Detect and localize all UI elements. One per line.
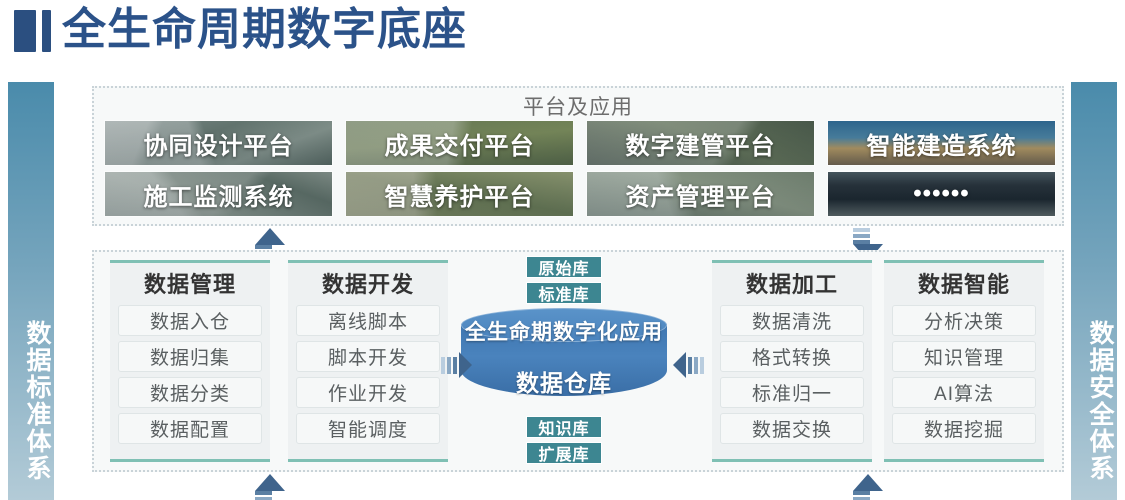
data-item[interactable]: 数据配置	[118, 413, 262, 444]
data-item[interactable]: 数据归集	[118, 341, 262, 372]
data-column-title: 数据管理	[118, 267, 262, 303]
platform-card[interactable]: 施工监测系统	[104, 171, 333, 217]
platform-card[interactable]: 智能建造系统	[827, 120, 1056, 166]
cylinder-label-primary: 全生命期数字化应用	[461, 316, 667, 346]
data-item[interactable]: 知识管理	[892, 341, 1036, 372]
data-item[interactable]: 脚本开发	[296, 341, 440, 372]
data-column-title: 数据加工	[720, 267, 864, 303]
platform-card-label: 施工监测系统	[144, 177, 294, 212]
platform-panel: 平台及应用 协同设计平台 施工监测系统 成果交付平台	[92, 86, 1064, 226]
platform-card-label: 资产管理平台	[626, 177, 776, 212]
data-item[interactable]: 格式转换	[720, 341, 864, 372]
data-column-development: 数据开发 离线脚本 脚本开发 作业开发 智能调度	[288, 260, 448, 462]
arrow-up-icon-bottom-right	[853, 474, 883, 500]
platform-card[interactable]: 资产管理平台	[586, 171, 815, 217]
db-tag-standard[interactable]: 标准库	[526, 282, 602, 304]
cylinder-icon: 全生命期数字化应用 数据仓库	[461, 308, 667, 412]
data-column-intelligence: 数据智能 分析决策 知识管理 AI算法 数据挖掘	[884, 260, 1044, 462]
data-column-items: 数据入仓 数据归集 数据分类 数据配置	[118, 305, 262, 444]
platform-card[interactable]: 成果交付平台	[345, 120, 574, 166]
page-title: 全生命周期数字底座	[62, 2, 467, 58]
platform-card[interactable]: 协同设计平台	[104, 120, 333, 166]
platform-card-label: 成果交付平台	[385, 126, 535, 161]
platform-panel-heading: 平台及应用	[94, 91, 1062, 121]
db-tag-raw[interactable]: 原始库	[526, 256, 602, 278]
data-item[interactable]: 数据挖掘	[892, 413, 1036, 444]
data-item[interactable]: 数据清洗	[720, 305, 864, 336]
data-item[interactable]: 数据分类	[118, 377, 262, 408]
data-column-title: 数据开发	[296, 267, 440, 303]
data-column-items: 离线脚本 脚本开发 作业开发 智能调度	[296, 305, 440, 444]
platform-card[interactable]: 数字建管平台	[586, 120, 815, 166]
platform-group: 数字建管平台 资产管理平台	[586, 120, 815, 217]
double-bar-icon	[14, 10, 51, 52]
data-column-items: 分析决策 知识管理 AI算法 数据挖掘	[892, 305, 1036, 444]
platform-card-more[interactable]: ••••••	[827, 171, 1056, 217]
arrow-up-icon-bottom-left	[255, 474, 285, 500]
platform-card-label: 协同设计平台	[144, 126, 294, 161]
platform-card-label: ••••••	[913, 180, 969, 208]
data-column-title: 数据智能	[892, 267, 1036, 303]
platform-card-groups: 协同设计平台 施工监测系统 成果交付平台 智慧养护平台	[104, 120, 1056, 217]
data-item[interactable]: 标准归一	[720, 377, 864, 408]
platform-group: 协同设计平台 施工监测系统	[104, 120, 333, 217]
data-item[interactable]: 数据入仓	[118, 305, 262, 336]
data-column-processing: 数据加工 数据清洗 格式转换 标准归一 数据交换	[712, 260, 872, 462]
platform-group: 智能建造系统 ••••••	[827, 120, 1056, 217]
data-column-management: 数据管理 数据入仓 数据归集 数据分类 数据配置	[110, 260, 270, 462]
arrow-right-icon-into-warehouse	[441, 352, 472, 378]
data-item[interactable]: 分析决策	[892, 305, 1036, 336]
data-item[interactable]: 离线脚本	[296, 305, 440, 336]
platform-group: 成果交付平台 智慧养护平台	[345, 120, 574, 217]
data-item[interactable]: AI算法	[892, 377, 1036, 408]
slide-root: 全生命周期数字底座 数据标准体系 数据安全体系 平台及应用 协同设计平台 施工监…	[0, 0, 1125, 500]
data-item[interactable]: 作业开发	[296, 377, 440, 408]
side-banner-left: 数据标准体系	[8, 82, 54, 500]
cylinder-label-secondary: 数据仓库	[461, 364, 667, 398]
data-item[interactable]: 智能调度	[296, 413, 440, 444]
side-banner-right-label: 数据安全体系	[1071, 306, 1117, 496]
platform-card-label: 数字建管平台	[626, 126, 776, 161]
platform-card-label: 智慧养护平台	[385, 177, 535, 212]
db-tag-knowledge[interactable]: 知识库	[526, 416, 602, 438]
data-column-items: 数据清洗 格式转换 标准归一 数据交换	[720, 305, 864, 444]
data-warehouse-center: 原始库 标准库 全生命期数字化应用 数据仓库 知识库 扩展库	[458, 256, 670, 468]
side-banner-left-label: 数据标准体系	[8, 306, 54, 496]
platform-card-label: 智能建造系统	[867, 126, 1017, 161]
data-item[interactable]: 数据交换	[720, 413, 864, 444]
side-banner-right: 数据安全体系	[1071, 82, 1117, 500]
slide-header: 全生命周期数字底座	[0, 0, 1125, 78]
platform-card[interactable]: 智慧养护平台	[345, 171, 574, 217]
db-tag-extension[interactable]: 扩展库	[526, 442, 602, 464]
arrow-left-icon-into-warehouse	[673, 352, 704, 378]
